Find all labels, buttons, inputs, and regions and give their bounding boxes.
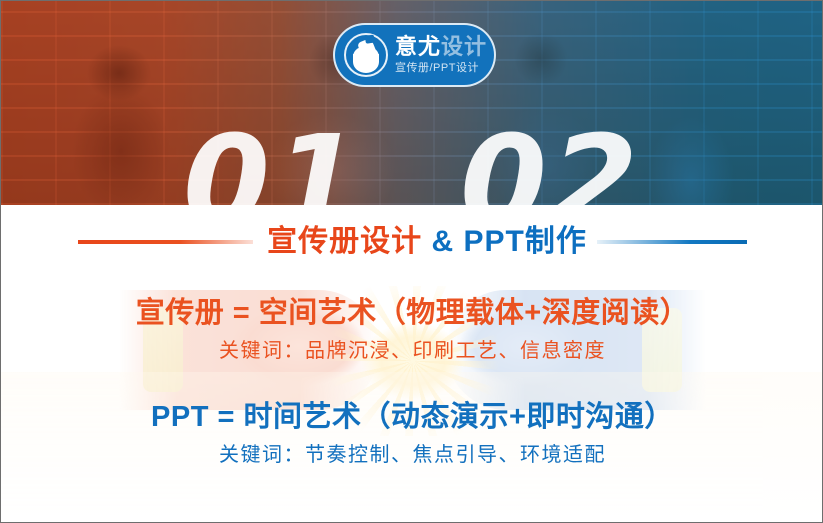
section-headline-row: 宣传册设计 & PPT制作: [1, 227, 823, 257]
slide-canvas: 01 02 意尤设计 宣传册/PPT设计 宣传册设计 & PPT制作: [0, 0, 823, 523]
logo-subtitle: 宣传册/PPT设计: [395, 63, 487, 74]
ppt-title: PPT = 时间艺术（动态演示+即时沟通）: [1, 403, 823, 432]
brochure-keywords: 关键词：品牌沉浸、印刷工艺、信息密度: [1, 341, 823, 361]
big-section-numbers: 01 02: [1, 119, 823, 205]
hero-banner: 01 02 意尤设计 宣传册/PPT设计: [1, 1, 823, 205]
logo-title-solid: 意尤: [395, 34, 441, 59]
headline-blue-text: & PPT制作: [431, 225, 586, 258]
headline-orange-text: 宣传册设计: [267, 225, 422, 258]
section-headline: 宣传册设计 & PPT制作: [267, 227, 587, 257]
brochure-title: 宣传册 = 空间艺术（物理载体+深度阅读）: [1, 299, 823, 328]
logo-title-faded: 设计: [441, 34, 487, 59]
headline-rule-right: [597, 240, 747, 244]
headline-rule-left: [78, 240, 253, 244]
logo-text-group: 意尤设计 宣传册/PPT设计: [395, 36, 487, 74]
ppt-keywords: 关键词：节奏控制、焦点引导、环境适配: [1, 445, 823, 465]
content-layer: 宣传册设计 & PPT制作 宣传册 = 空间艺术（物理载体+深度阅读） 关键词：…: [1, 205, 823, 522]
concept-block-brochure: 宣传册 = 空间艺术（物理载体+深度阅读） 关键词：品牌沉浸、印刷工艺、信息密度: [1, 299, 823, 361]
brand-logo[interactable]: 意尤设计 宣传册/PPT设计: [333, 23, 496, 87]
logo-title: 意尤设计: [395, 36, 487, 58]
pen-drop-icon: [344, 33, 388, 77]
concept-block-ppt: PPT = 时间艺术（动态演示+即时沟通） 关键词：节奏控制、焦点引导、环境适配: [1, 403, 823, 465]
